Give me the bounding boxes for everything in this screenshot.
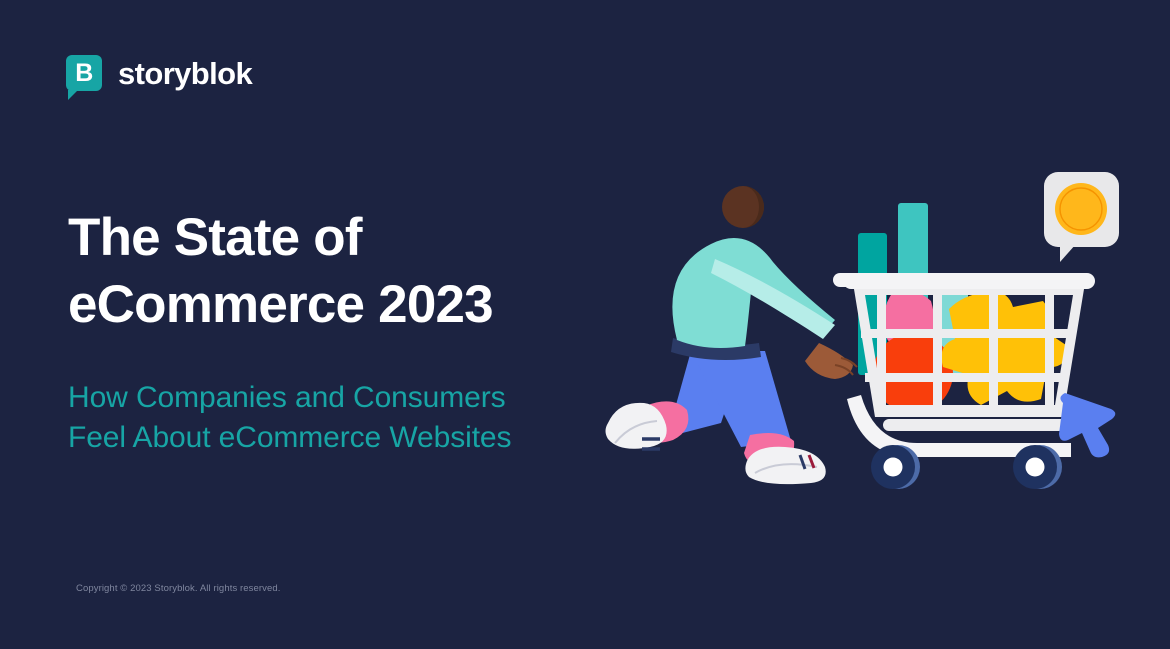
page-subtitle: How Companies and Consumers Feel About e… [68, 378, 628, 458]
person-illustration [606, 186, 858, 484]
headline-line-1: The State of [68, 205, 628, 272]
storyblok-logo-icon: B [66, 55, 102, 91]
subhead-line-2: Feel About eCommerce Websites [68, 418, 628, 458]
coin-speech-bubble-icon [1044, 172, 1119, 262]
hand [805, 343, 853, 379]
storyblok-wordmark: storyblok [118, 58, 252, 89]
speech-bubble-tail-icon [68, 90, 78, 100]
hero-illustration [595, 155, 1140, 505]
cart-handle [833, 273, 873, 287]
coin-icon [1055, 183, 1107, 235]
logo-letter: B [75, 61, 93, 86]
cart-top-rail [843, 273, 1095, 289]
slide-canvas: B storyblok The State of eCommerce 2023 … [0, 0, 1170, 649]
headline-line-2: eCommerce 2023 [68, 272, 628, 339]
cart-items [873, 291, 1069, 413]
page-title: The State of eCommerce 2023 [68, 205, 628, 339]
subhead-line-1: How Companies and Consumers [68, 378, 628, 418]
copyright-notice: Copyright © 2023 Storyblok. All rights r… [76, 583, 281, 594]
storyblok-logo[interactable]: B storyblok [66, 55, 252, 91]
cart-lower-bar [883, 419, 1067, 431]
